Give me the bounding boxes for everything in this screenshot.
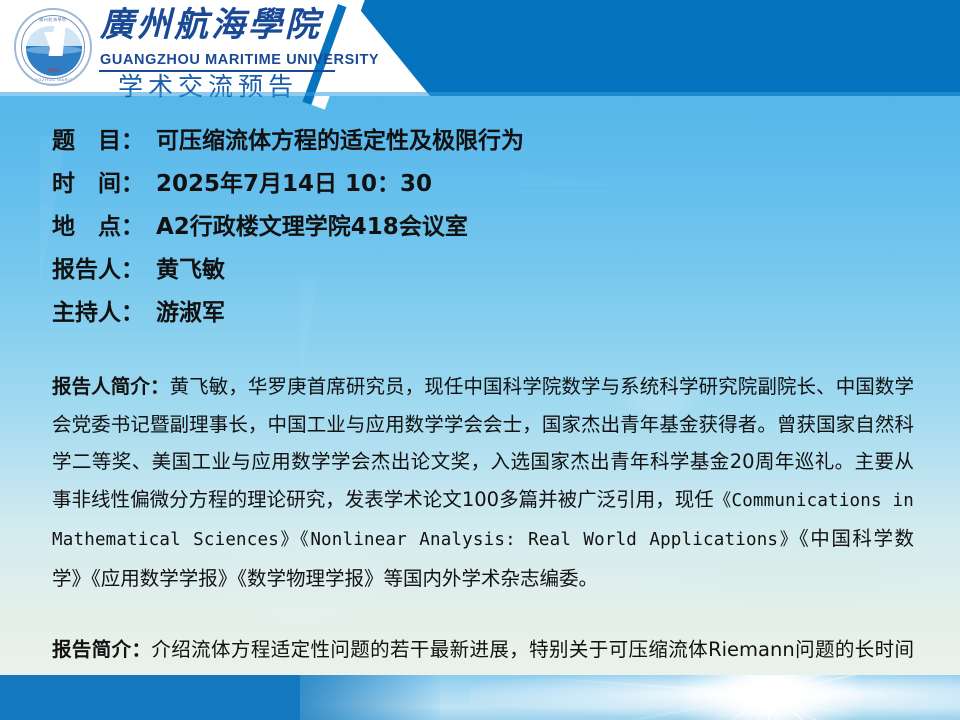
speaker-bio-label: 报告人简介： (52, 375, 170, 398)
speaker-bio-paragraph: 报告人简介：黄飞敏，华罗庚首席研究员，现任中国科学院数学与系统科学研究院副院长、… (52, 368, 914, 597)
header-banner: 廣州航海學院 1964 GUANGZHOU MARITIME UNIVERSIT… (0, 0, 960, 96)
journal-name-2: 《Nonlinear Analysis: Real World Applicat… (300, 530, 799, 550)
info-row-time: 时 间： 2025年7月14日 10：30 (52, 163, 912, 206)
journal-name-4: 《应用数学学报》 (91, 567, 237, 590)
info-row-host: 主持人： 游淑军 (52, 292, 912, 335)
bottom-glow-band (0, 675, 960, 720)
university-name-en: GUANGZHOU MARITIME UNIVERSITY (100, 52, 379, 68)
info-label-location: 地 点： (52, 206, 156, 249)
info-value-title: 可压缩流体方程的适定性及极限行为 (156, 120, 912, 163)
info-value-location: A2行政楼文理学院418会议室 (156, 206, 912, 249)
content-area: 题 目： 可压缩流体方程的适定性及极限行为 时 间： 2025年7月14日 10… (0, 96, 960, 720)
info-label-time: 时 间： (52, 163, 156, 206)
university-name-cn: 廣州航海學院 (100, 6, 322, 46)
abstract-label: 报告简介： (52, 638, 151, 661)
journal-name-5: 《数学物理学报》 (237, 567, 383, 590)
announcement-poster: 廣州航海學院 1964 GUANGZHOU MARITIME UNIVERSIT… (0, 0, 960, 720)
band-left-fade (250, 675, 440, 720)
info-value-time: 2025年7月14日 10：30 (156, 163, 912, 206)
info-value-speaker: 黄飞敏 (156, 249, 912, 292)
info-row-location: 地 点： A2行政楼文理学院418会议室 (52, 206, 912, 249)
university-emblem: 廣州航海學院 1964 GUANGZHOU MARITIME UNIVERSIT… (14, 8, 92, 86)
speaker-bio-tail: 等国内外学术杂志编委。 (384, 567, 599, 590)
emblem-founding-year: 1964 (16, 68, 90, 74)
info-label-speaker: 报告人： (52, 249, 156, 292)
info-row-title: 题 目： 可压缩流体方程的适定性及极限行为 (52, 120, 912, 163)
info-value-host: 游淑军 (156, 292, 912, 335)
event-info-list: 题 目： 可压缩流体方程的适定性及极限行为 时 间： 2025年7月14日 10… (52, 120, 912, 335)
header-divider-rule (99, 70, 335, 72)
emblem-arc-top-text: 廣州航海學院 (16, 17, 90, 23)
info-label-host: 主持人： (52, 292, 156, 335)
info-row-speaker: 报告人： 黄飞敏 (52, 249, 912, 292)
info-label-title: 题 目： (52, 120, 156, 163)
